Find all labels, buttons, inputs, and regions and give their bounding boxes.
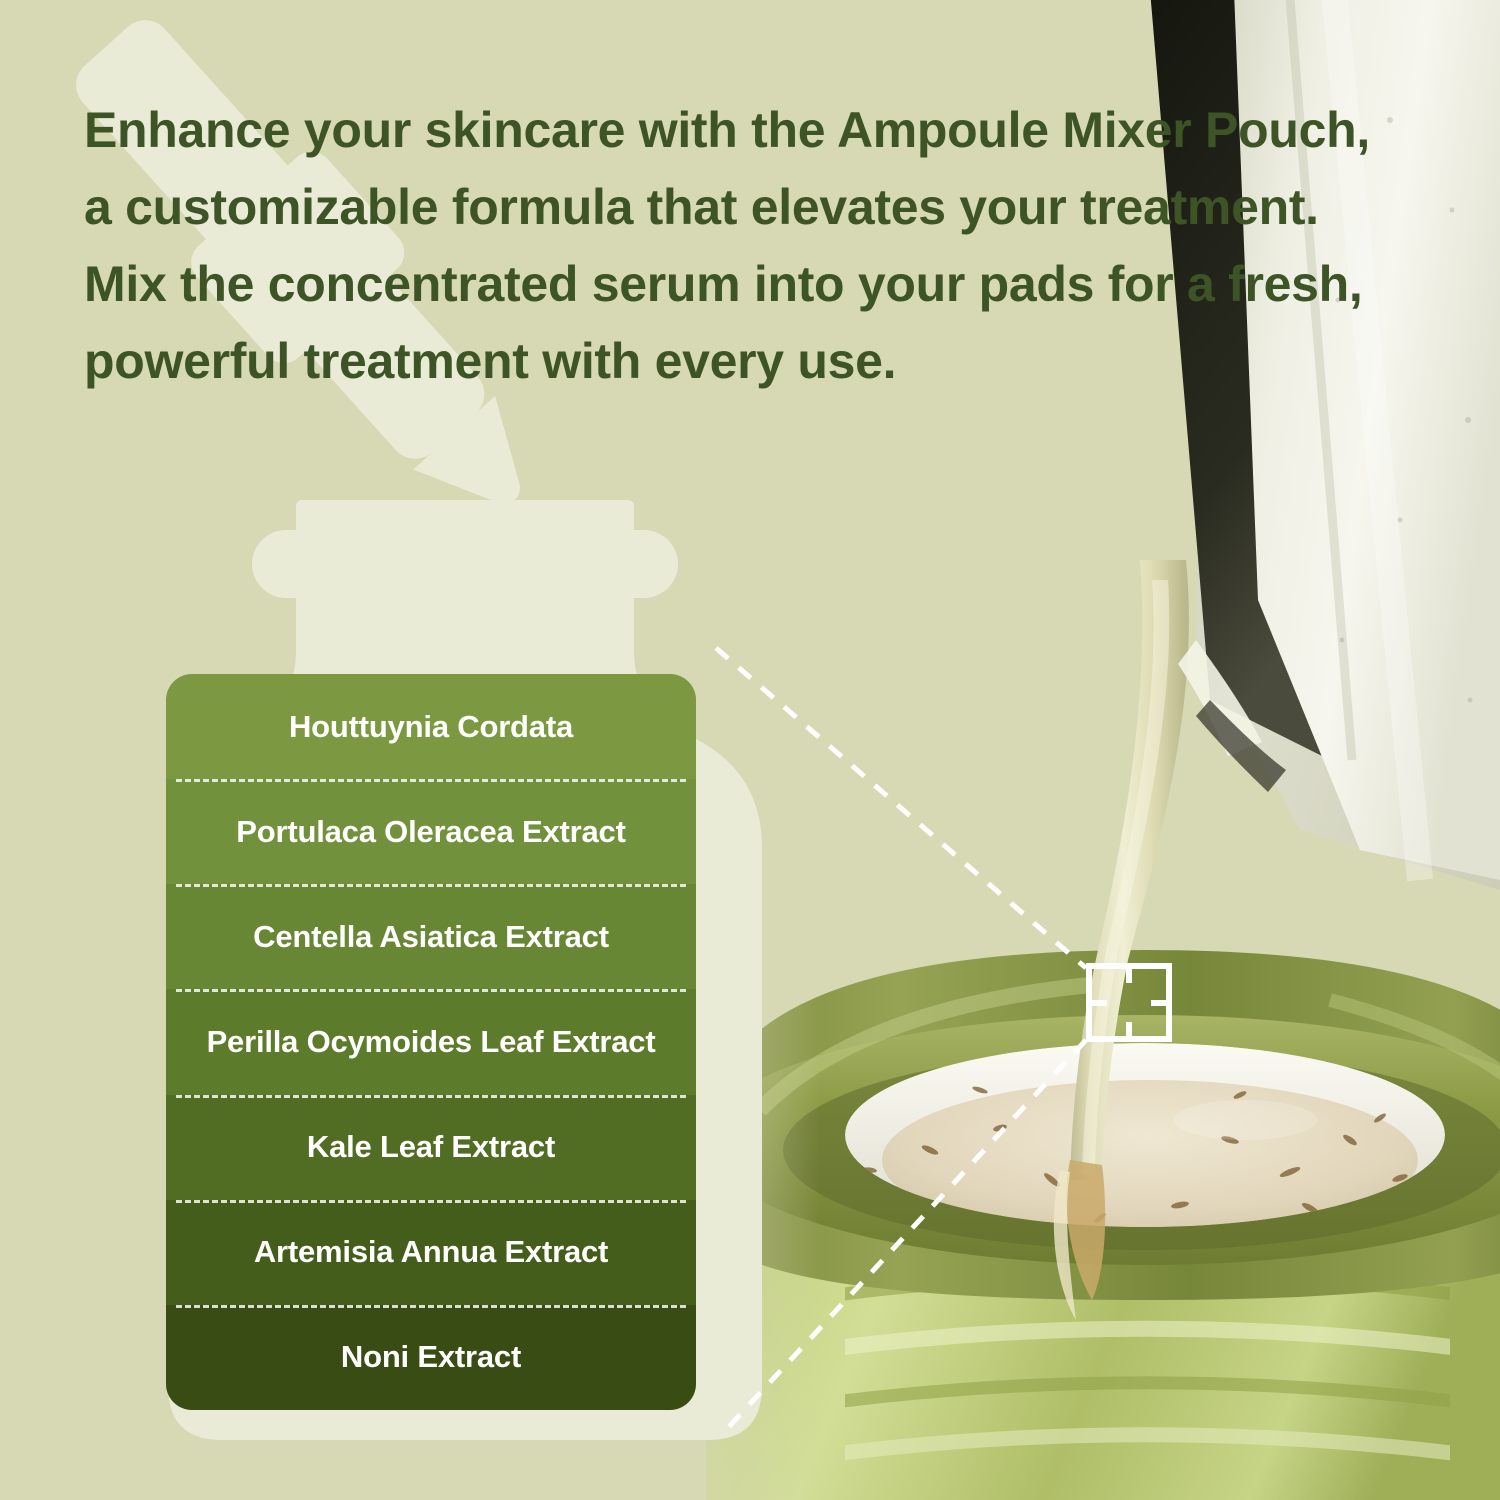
jar-body (648, 1120, 1500, 1500)
headline-line: Mix the concentrated serum into your pad… (84, 246, 1444, 323)
headline-line: powerful treatment with every use. (84, 323, 1444, 400)
ingredient-label: Artemisia Annua Extract (254, 1234, 608, 1270)
ingredient-row[interactable]: Houttuynia Cordata (166, 674, 696, 779)
ingredient-label: Portulaca Oleracea Extract (236, 814, 625, 850)
headline-line: Enhance your skincare with the Ampoule M… (84, 92, 1444, 169)
headline-line: a customizable formula that elevates you… (84, 169, 1444, 246)
ingredient-label: Houttuynia Cordata (289, 709, 573, 745)
ingredient-label: Perilla Ocymoides Leaf Extract (207, 1024, 656, 1060)
ingredient-row[interactable]: Perilla Ocymoides Leaf Extract (166, 989, 696, 1094)
product-infographic: Houttuynia Cordata Portulaca Oleracea Ex… (0, 0, 1500, 1500)
headline: Enhance your skincare with the Ampoule M… (84, 92, 1444, 400)
ingredient-label: Kale Leaf Extract (307, 1129, 555, 1165)
ingredient-row[interactable]: Kale Leaf Extract (166, 1095, 696, 1200)
jar-interior (845, 1043, 1445, 1247)
focus-crosshair-reticle (1086, 963, 1172, 1042)
ingredient-list-panel: Houttuynia Cordata Portulaca Oleracea Ex… (166, 674, 696, 1410)
ingredient-label: Centella Asiatica Extract (253, 919, 609, 955)
ingredient-row[interactable]: Noni Extract (166, 1305, 696, 1410)
serum-pour-stream (1054, 560, 1189, 1320)
ingredient-row[interactable]: Artemisia Annua Extract (166, 1200, 696, 1305)
ingredient-row[interactable]: Centella Asiatica Extract (166, 884, 696, 989)
ingredient-label: Noni Extract (341, 1339, 521, 1375)
ingredient-row[interactable]: Portulaca Oleracea Extract (166, 779, 696, 884)
